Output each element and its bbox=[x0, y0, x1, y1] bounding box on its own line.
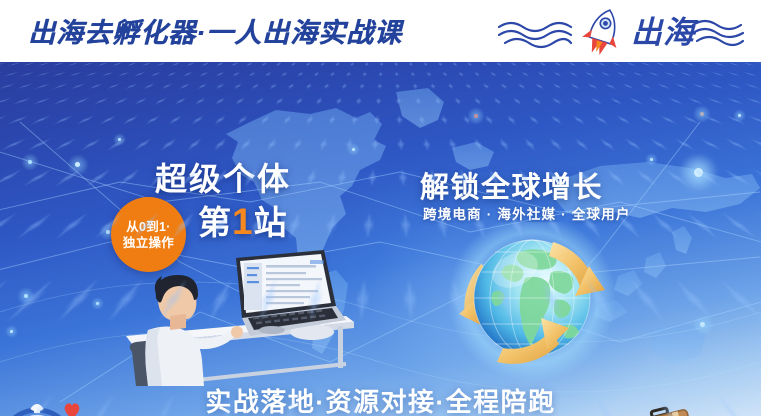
headline-super-individual: 超级个体 bbox=[155, 154, 291, 200]
page-title: 出海去孵化器·一人出海实战课 bbox=[28, 11, 402, 50]
glow-dot bbox=[10, 330, 13, 333]
status-badge-zero-to-one: 从0到1· 独立操作 bbox=[111, 197, 186, 272]
glow-dot bbox=[106, 230, 110, 234]
glow-dot bbox=[650, 158, 653, 161]
wave-lines-icon bbox=[499, 23, 571, 47]
hero-banner: 超级个体 第1站 从0到1· 独立操作 解锁全球增长 跨境电商 · 海外社媒 ·… bbox=[0, 62, 761, 416]
badge-line-2: 独立操作 bbox=[123, 235, 174, 251]
page-header: 出海去孵化器·一人出海实战课 bbox=[0, 0, 761, 62]
brand-logo[interactable]: 出海 bbox=[497, 5, 747, 57]
glow-dot bbox=[700, 112, 704, 116]
glow-dot bbox=[96, 302, 99, 305]
glow-dot bbox=[352, 148, 355, 151]
glow-dot bbox=[28, 160, 32, 164]
logo-brand-text: 出海 bbox=[631, 15, 699, 50]
station-prefix: 第 bbox=[198, 204, 232, 241]
glow-dot bbox=[474, 114, 478, 118]
wave-lines-icon bbox=[693, 21, 743, 45]
slogan-primary: 实战落地·资源对接·全程陪跑 bbox=[0, 382, 761, 416]
glow-dot bbox=[118, 138, 121, 141]
globe-with-arrows-illustration bbox=[437, 222, 627, 387]
glow-dot bbox=[738, 114, 741, 117]
headline-unlock-global-growth: 解锁全球增长 bbox=[420, 164, 603, 206]
glow-dot bbox=[75, 162, 80, 167]
rocket-icon bbox=[578, 5, 626, 57]
promo-banner-page: 出海去孵化器·一人出海实战课 bbox=[0, 0, 761, 416]
headline-first-station: 第1站 bbox=[198, 196, 288, 244]
subhead-channels: 跨境电商 · 海外社媒 · 全球用户 bbox=[423, 203, 631, 223]
glow-dot bbox=[24, 294, 28, 298]
glow-dot bbox=[700, 322, 705, 327]
glow-dot bbox=[694, 168, 703, 177]
station-suffix: 站 bbox=[254, 204, 288, 241]
badge-line-1: 从0到1· bbox=[126, 219, 171, 235]
station-number: 1 bbox=[232, 201, 254, 242]
